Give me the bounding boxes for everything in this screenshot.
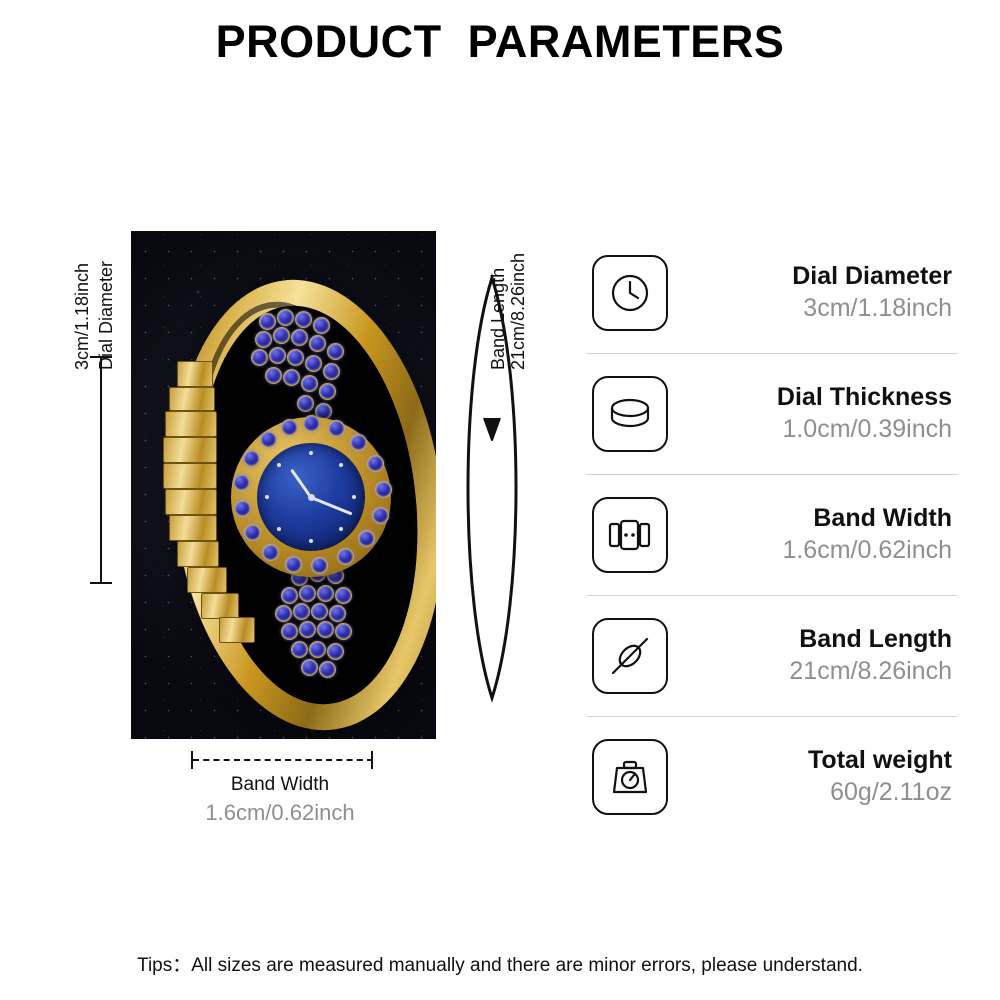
spec-text: Dial Diameter 3cm/1.18inch <box>668 261 966 325</box>
spec-label: Band Length <box>668 624 952 655</box>
rhinestone <box>273 327 290 344</box>
spec-label: Dial Diameter <box>668 261 952 292</box>
band-link <box>177 361 213 387</box>
rhinestone <box>281 419 298 436</box>
band-link <box>163 437 217 463</box>
rhinestone <box>372 507 389 524</box>
dial-thickness-icon <box>592 376 668 452</box>
rhinestone <box>291 329 308 346</box>
rhinestone <box>291 641 308 658</box>
hour-marker <box>309 539 313 543</box>
band-length-callout-label-text: Band Length <box>488 268 509 370</box>
rhinestone <box>299 621 316 638</box>
spec-text: Band Length 21cm/8.26inch <box>668 624 966 688</box>
rhinestone <box>301 375 318 392</box>
rhinestone <box>233 474 250 491</box>
spec-value: 1.0cm/0.39inch <box>668 413 952 446</box>
rhinestone <box>303 415 320 432</box>
rhinestone <box>317 621 334 638</box>
spec-row-dial-thickness: Dial Thickness 1.0cm/0.39inch <box>586 353 966 474</box>
spec-label: Total weight <box>668 745 952 776</box>
band-length-callout: 21cm/8.26inch <box>508 370 528 390</box>
rhinestone <box>297 395 314 412</box>
band-link <box>177 541 219 567</box>
rhinestone <box>260 431 277 448</box>
spec-text: Band Width 1.6cm/0.62inch <box>668 503 966 567</box>
page-title: PRODUCT PARAMETERS <box>0 16 1000 68</box>
watch-illustration <box>151 269 421 699</box>
spec-label: Dial Thickness <box>668 382 952 413</box>
spec-value: 3cm/1.18inch <box>668 292 952 325</box>
hour-marker <box>265 495 269 499</box>
dial-diameter-callout-label-text: Dial Diameter <box>96 261 117 370</box>
rhinestone <box>277 309 294 326</box>
rhinestone <box>295 311 312 328</box>
band-link <box>201 593 239 619</box>
dial-thickness-icon-svg <box>606 394 654 434</box>
band-width-callout-label: Band Width <box>150 774 410 796</box>
rhinestone <box>259 313 276 330</box>
dimension-cap-right <box>371 751 373 769</box>
band-width-dimension-line <box>185 748 381 772</box>
rhinestone <box>244 524 261 541</box>
rhinestone <box>255 331 272 348</box>
rhinestone <box>367 455 384 472</box>
rhinestone <box>335 587 352 604</box>
band-link <box>219 617 255 643</box>
rhinestone <box>319 661 336 678</box>
band-link <box>163 463 217 489</box>
spec-text: Dial Thickness 1.0cm/0.39inch <box>668 382 966 446</box>
spec-list: Dial Diameter 3cm/1.18inch Dial Thicknes… <box>586 232 966 837</box>
rhinestone <box>234 500 251 517</box>
hour-marker <box>277 463 281 467</box>
band-link <box>169 387 215 411</box>
band-length-icon <box>592 618 668 694</box>
rhinestone <box>251 349 268 366</box>
dimension-cap-bottom <box>90 582 112 584</box>
rhinestone <box>281 623 298 640</box>
rhinestone <box>317 585 334 602</box>
spec-row-band-width: Band Width 1.6cm/0.62inch <box>586 474 966 595</box>
rhinestone <box>323 363 340 380</box>
rhinestone <box>313 317 330 334</box>
hour-marker <box>309 451 313 455</box>
watch-dial-icon-svg <box>607 270 653 316</box>
footer-tip: Tips：All sizes are measured manually and… <box>0 950 1000 977</box>
band-link <box>165 411 217 437</box>
hour-marker <box>339 463 343 467</box>
dial-face <box>257 443 365 551</box>
product-photo-block <box>131 231 436 739</box>
spec-text: Total weight 60g/2.11oz <box>668 745 966 809</box>
rhinestone <box>262 544 279 561</box>
band-length-icon-svg <box>606 632 654 680</box>
kitchen-scale-icon <box>592 739 668 815</box>
dimension-line-dashed <box>193 759 373 761</box>
spec-value: 21cm/8.26inch <box>668 655 952 688</box>
rhinestone <box>311 603 328 620</box>
rhinestone <box>299 585 316 602</box>
rhinestone <box>243 450 260 467</box>
spec-row-total-weight: Total weight 60g/2.11oz <box>586 716 966 837</box>
hour-marker <box>277 527 281 531</box>
hand-hub <box>308 494 315 501</box>
rhinestone <box>293 603 310 620</box>
band-width-callout-value: 1.6cm/0.62inch <box>150 800 410 826</box>
rhinestone <box>358 530 375 547</box>
rhinestone <box>319 383 336 400</box>
rhinestone <box>275 605 292 622</box>
rhinestone <box>305 355 322 372</box>
kitchen-scale-icon-svg <box>607 754 653 800</box>
rhinestone <box>309 641 326 658</box>
rhinestone <box>281 587 298 604</box>
rhinestone <box>375 481 392 498</box>
spec-value: 60g/2.11oz <box>668 776 952 809</box>
rhinestone <box>309 335 326 352</box>
rhinestone <box>269 347 286 364</box>
band-length-callout-value-text: 21cm/8.26inch <box>508 253 529 370</box>
band-link <box>187 567 227 593</box>
product-photo <box>131 231 436 739</box>
rhinestone <box>287 349 304 366</box>
spec-label: Band Width <box>668 503 952 534</box>
dial-diameter-dimension-line <box>52 350 112 590</box>
watch-dial <box>231 417 391 577</box>
spec-value: 1.6cm/0.62inch <box>668 534 952 567</box>
rhinestone <box>329 605 346 622</box>
band-link <box>165 489 217 515</box>
watch-dial-icon <box>592 255 668 331</box>
rhinestone <box>327 343 344 360</box>
rhinestone <box>335 623 352 640</box>
rhinestone <box>350 434 367 451</box>
rhinestone <box>311 557 328 574</box>
hour-marker <box>352 495 356 499</box>
rhinestone <box>328 420 345 437</box>
dimension-line <box>100 356 102 584</box>
hour-marker <box>339 527 343 531</box>
rhinestone <box>285 556 302 573</box>
band-link <box>169 515 217 541</box>
band-length-callout-label: Band Length <box>488 370 508 390</box>
band-width-icon <box>592 497 668 573</box>
band-width-icon-svg <box>606 518 654 552</box>
spec-row-dial-diameter: Dial Diameter 3cm/1.18inch <box>586 232 966 353</box>
rhinestone <box>301 659 318 676</box>
rhinestone <box>283 369 300 386</box>
dial-diameter-callout-value-text: 3cm/1.18inch <box>72 263 93 370</box>
rhinestone <box>265 367 282 384</box>
rhinestone <box>337 548 354 565</box>
rhinestone <box>327 643 344 660</box>
spec-row-band-length: Band Length 21cm/8.26inch <box>586 595 966 716</box>
minute-hand <box>310 496 352 515</box>
